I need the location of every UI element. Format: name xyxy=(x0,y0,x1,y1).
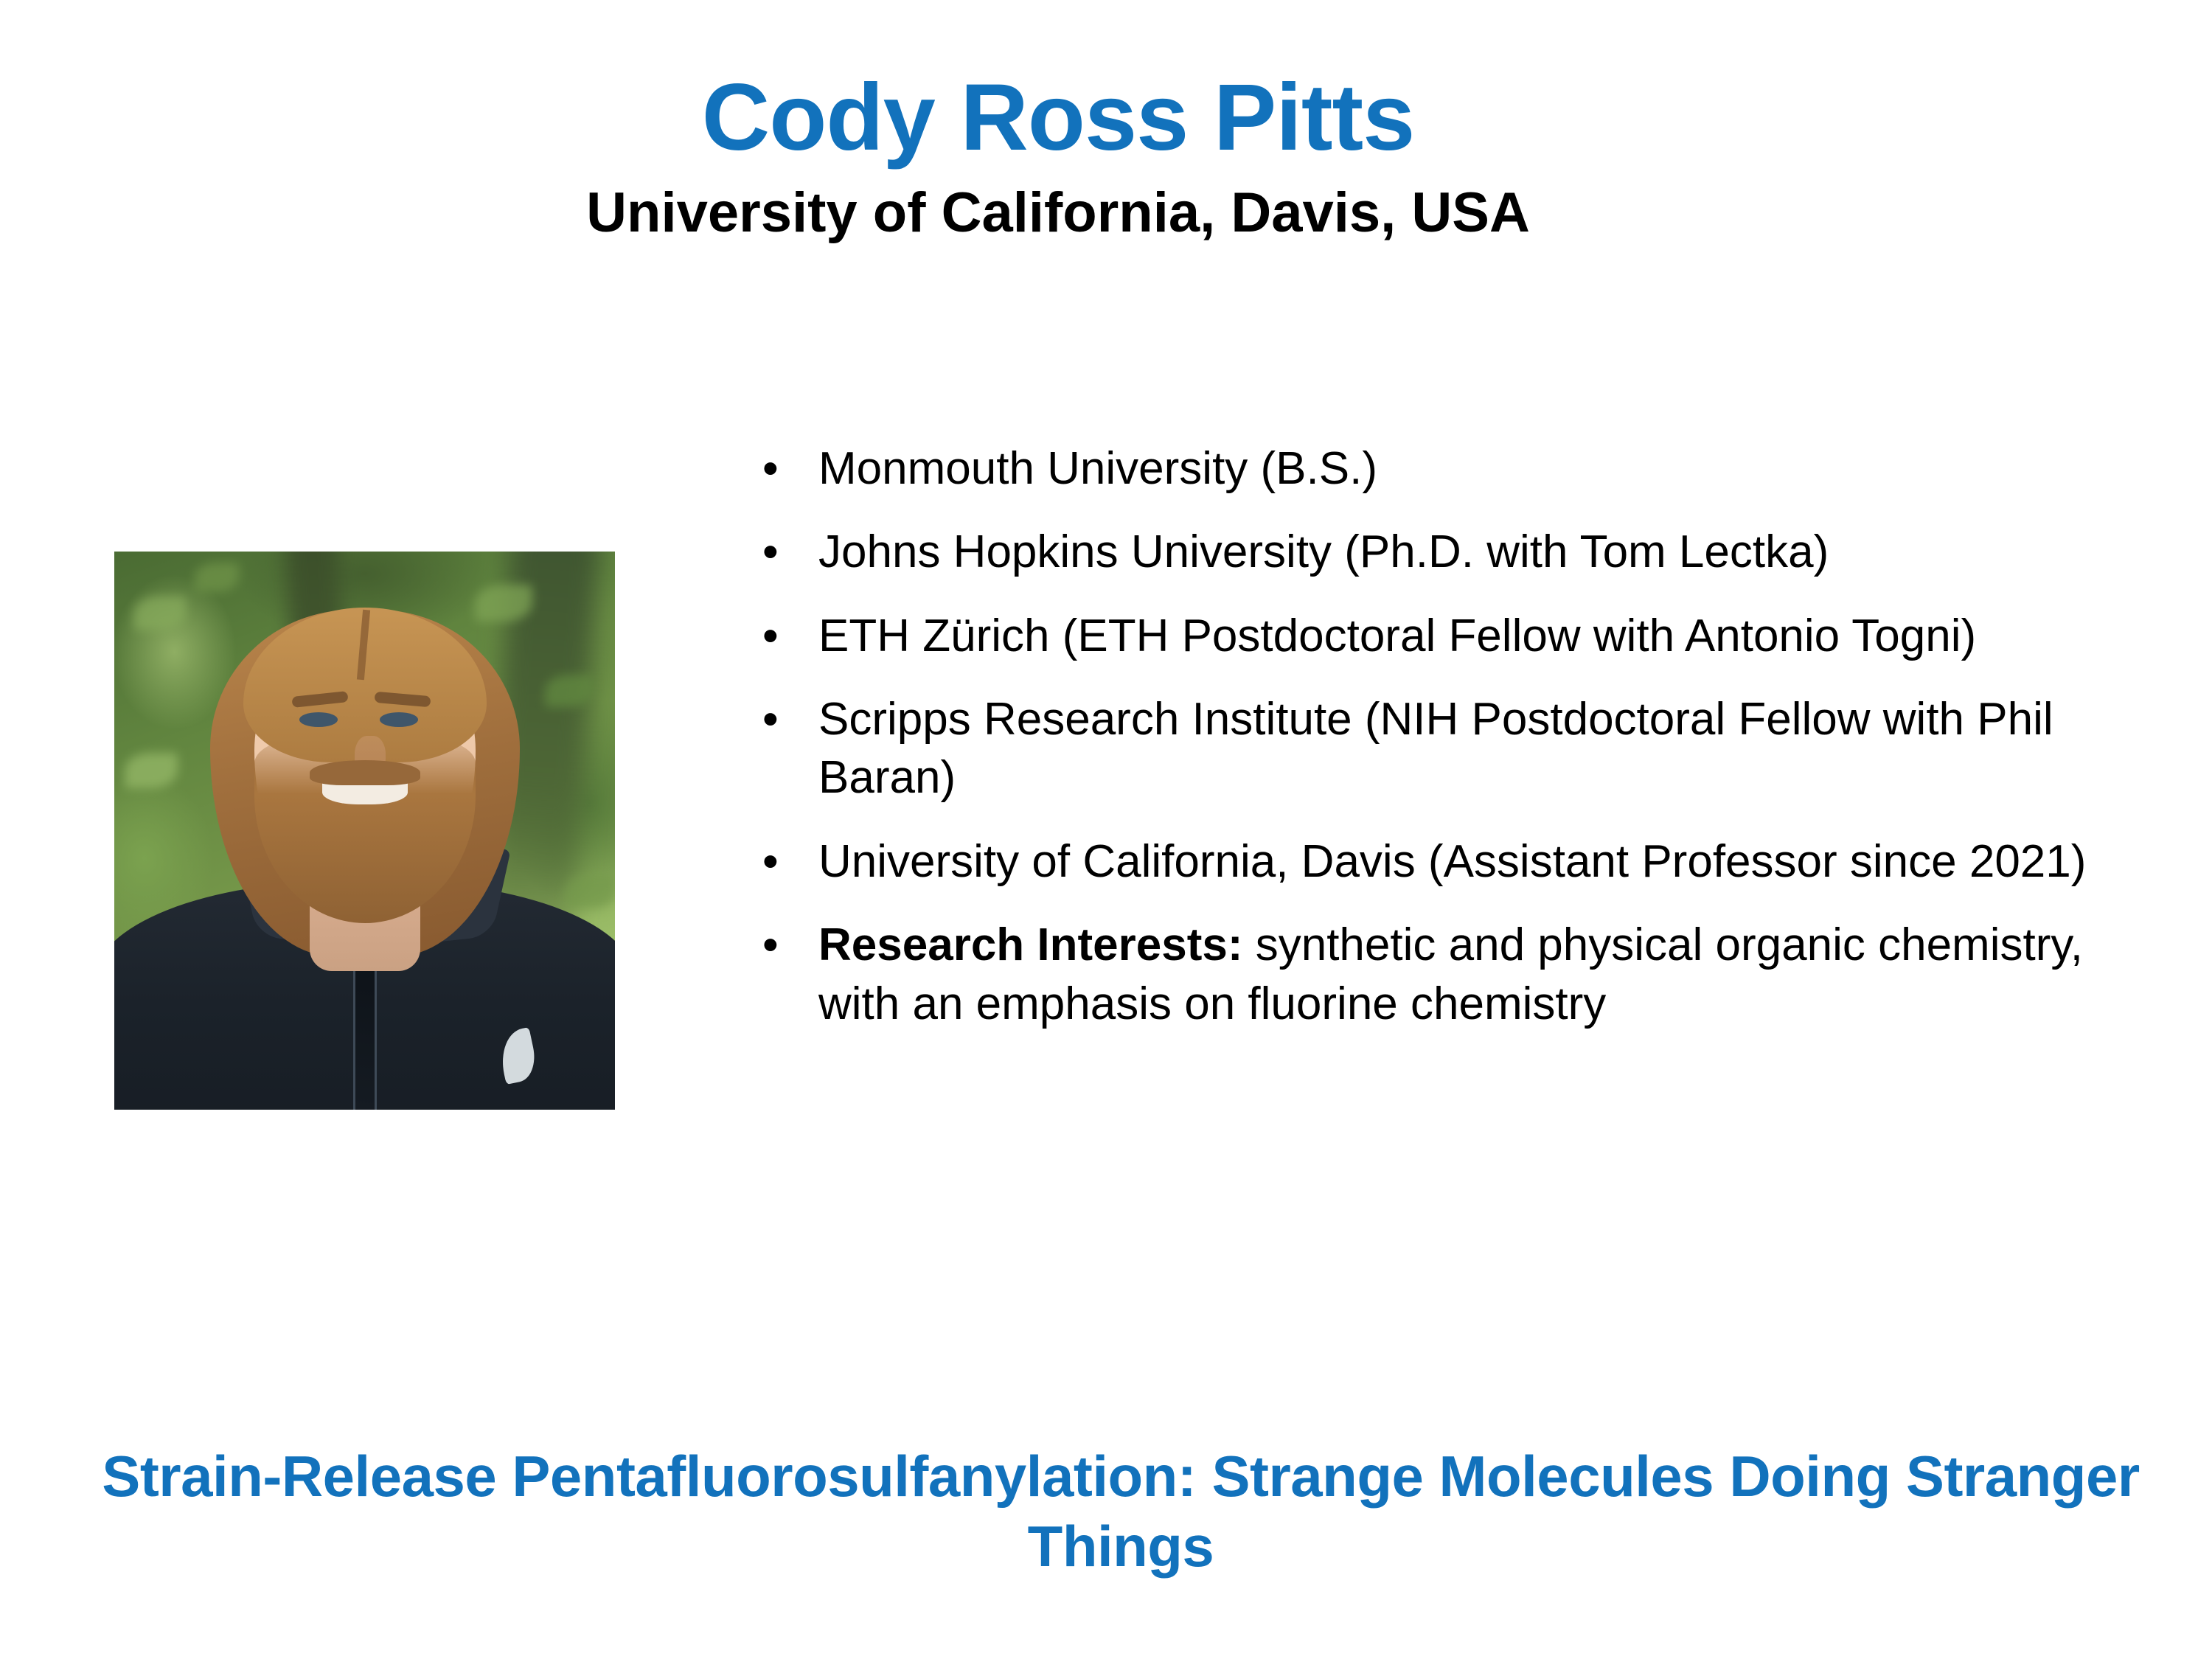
speaker-name: Cody Ross Pitts xyxy=(0,68,2212,168)
bullet-icon: • xyxy=(752,832,818,891)
list-item: • Johns Hopkins University (Ph.D. with T… xyxy=(752,523,2120,581)
eye-left xyxy=(299,712,338,727)
bullet-text: Johns Hopkins University (Ph.D. with Tom… xyxy=(818,523,2120,581)
list-item: • Scripps Research Institute (NIH Postdo… xyxy=(752,690,2120,807)
bullet-text-research-interests: Research Interests: synthetic and physic… xyxy=(818,916,2120,1033)
bullet-text: Scripps Research Institute (NIH Postdoct… xyxy=(818,690,2120,807)
list-item: • ETH Zürich (ETH Postdoctoral Fellow wi… xyxy=(752,607,2120,665)
presentation-slide: Cody Ross Pitts University of California… xyxy=(0,0,2212,1659)
bullet-icon: • xyxy=(752,690,818,748)
eye-right xyxy=(380,712,418,727)
list-item: • Research Interests: synthetic and phys… xyxy=(752,916,2120,1033)
bullet-text: Monmouth University (B.S.) xyxy=(818,439,2120,498)
talk-title: Strain-Release Pentafluorosulfanylation:… xyxy=(81,1441,2160,1582)
bullet-icon: • xyxy=(752,523,818,581)
shirt-placket xyxy=(353,964,377,1110)
bullet-icon: • xyxy=(752,607,818,665)
list-item: • Monmouth University (B.S.) xyxy=(752,439,2120,498)
portrait-subject xyxy=(114,552,615,1110)
list-item: • University of California, Davis (Assis… xyxy=(752,832,2120,891)
bullet-text: ETH Zürich (ETH Postdoctoral Fellow with… xyxy=(818,607,2120,665)
speaker-photo xyxy=(114,552,615,1110)
bullet-icon: • xyxy=(752,916,818,974)
slide-header: Cody Ross Pitts University of California… xyxy=(0,68,2212,244)
biography-bullet-list: • Monmouth University (B.S.) • Johns Hop… xyxy=(752,439,2120,1058)
portrait-image xyxy=(114,552,615,1110)
speaker-affiliation: University of California, Davis, USA xyxy=(0,181,2212,244)
bullet-icon: • xyxy=(752,439,818,498)
bullet-text: University of California, Davis (Assista… xyxy=(818,832,2120,891)
mustache xyxy=(310,760,420,785)
research-interests-label: Research Interests: xyxy=(818,919,1243,970)
